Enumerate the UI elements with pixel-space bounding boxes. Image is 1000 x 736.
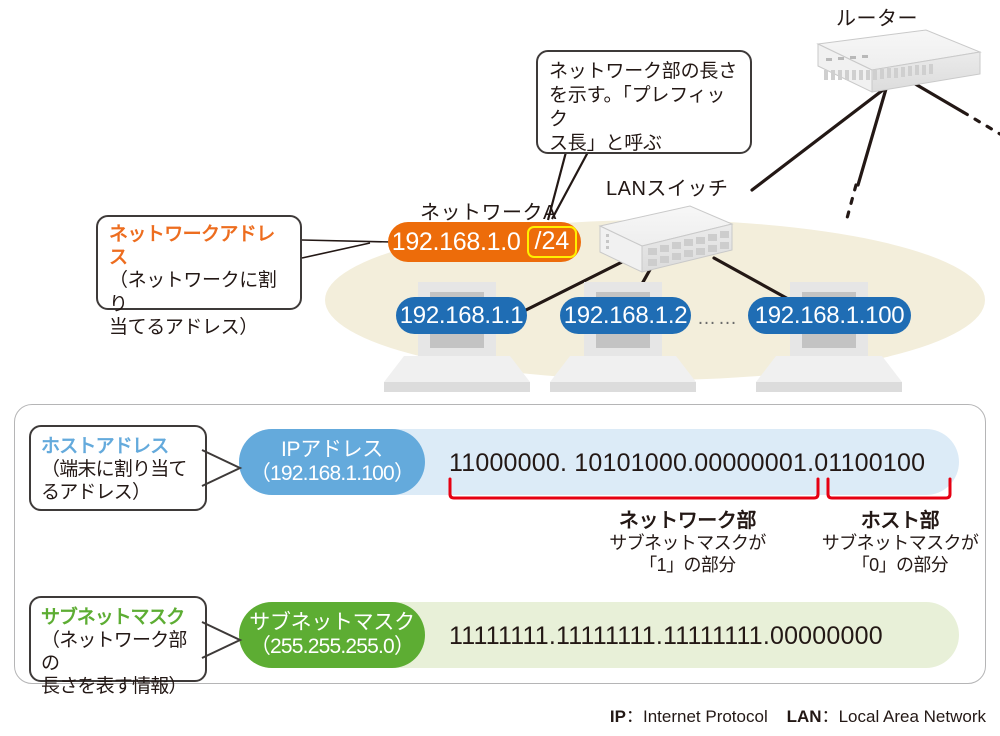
bit-part-brackets (0, 404, 1000, 704)
legend-lan-full: ：Local Area Network (822, 707, 986, 726)
callout-prefix-length: ネットワーク部の長さ を示す。「プレフィック ス長」と呼ぶ (536, 50, 752, 154)
leader-network-address (302, 240, 392, 258)
legend-ip-abbr: IP (610, 707, 626, 726)
legend-ip-full: ：Internet Protocol (626, 707, 768, 726)
link-router-down-dashed (846, 185, 856, 222)
host-address-pill-3: 192.168.1.100 (748, 297, 911, 334)
diagram-root: ルーター LANスイッチ ネットワークA ネットワーク部の長さ を示す。「プレフ… (0, 0, 1000, 736)
leader-host-address (200, 448, 246, 488)
router-icon (818, 30, 980, 92)
leader-subnet-mask (200, 620, 246, 660)
link-router-switch (752, 80, 896, 190)
panel-pointer (806, 392, 846, 400)
link-router-right-dashed (963, 112, 1000, 134)
network-address-pill: 192.168.1.0 /24 (388, 222, 581, 262)
network-address-value: 192.168.1.0 (392, 228, 521, 257)
prefix-length-badge: /24 (527, 226, 578, 258)
callout-network-address-title: ネットワークアドレス (109, 223, 292, 269)
bracket-host-part (828, 479, 950, 498)
hosts-ellipsis: …… (697, 308, 739, 330)
callout-network-address: ネットワークアドレス （ネットワークに割り 当てるアドレス） (96, 215, 302, 310)
callout-prefix-length-text: ネットワーク部の長さ を示す。「プレフィック ス長」と呼ぶ (549, 60, 740, 156)
legend-lan-abbr: LAN (787, 707, 822, 726)
network-a-label: ネットワークA (420, 196, 557, 225)
callout-network-address-body: （ネットワークに割り 当てるアドレス） (109, 269, 292, 340)
host-address-pill-2: 192.168.1.2 (560, 297, 691, 334)
abbreviation-legend: IP：Internet Protocol LAN：Local Area Netw… (610, 702, 986, 727)
lan-switch-label: LANスイッチ (606, 172, 728, 201)
host-address-pill-1: 192.168.1.1 (396, 297, 527, 334)
router-label: ルーター (836, 2, 918, 31)
bracket-network-part (450, 479, 818, 498)
